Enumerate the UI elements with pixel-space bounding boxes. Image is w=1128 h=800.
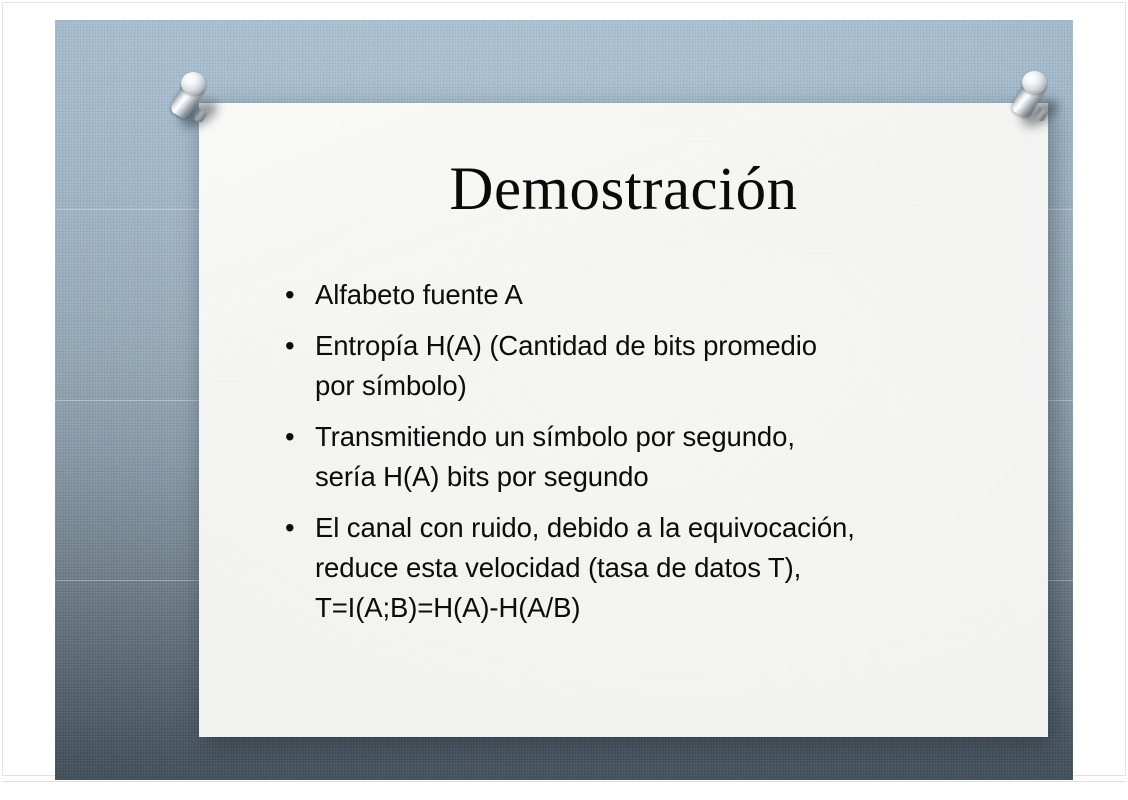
pushpin-head xyxy=(1022,71,1047,94)
list-item: • Entropía H(A) (Cantidad de bits promed… xyxy=(282,326,1002,406)
list-item-text: Transmitiendo un símbolo por segundo, se… xyxy=(315,417,1002,497)
list-item: • Transmitiendo un símbolo por segundo, … xyxy=(282,417,1002,497)
bullet-point-icon: • xyxy=(285,326,295,366)
bullet-point-icon: • xyxy=(285,417,295,457)
list-item: • Alfabeto fuente A xyxy=(282,275,1002,315)
page-title: Demostración xyxy=(199,159,1048,220)
list-item: • El canal con ruido, debido a la equivo… xyxy=(282,508,1002,628)
page-bottom-rule xyxy=(2,781,1126,782)
slide-content: Demostración • Alfabeto fuente A • Entro… xyxy=(199,103,1048,737)
paper-sheet: Demostración • Alfabeto fuente A • Entro… xyxy=(199,103,1048,737)
list-item-text: Alfabeto fuente A xyxy=(315,275,1002,315)
bullet-list: • Alfabeto fuente A • Entropía H(A) (Can… xyxy=(282,275,1002,639)
slide-page: Demostración • Alfabeto fuente A • Entro… xyxy=(0,0,1128,800)
bullet-point-icon: • xyxy=(285,508,295,548)
list-item-text: Entropía H(A) (Cantidad de bits promedio… xyxy=(315,326,1002,406)
list-item-text: El canal con ruido, debido a la equivoca… xyxy=(315,508,1002,628)
bullet-point-icon: • xyxy=(285,275,295,315)
pushpin-head xyxy=(181,72,206,95)
corkboard-background: Demostración • Alfabeto fuente A • Entro… xyxy=(55,20,1073,780)
